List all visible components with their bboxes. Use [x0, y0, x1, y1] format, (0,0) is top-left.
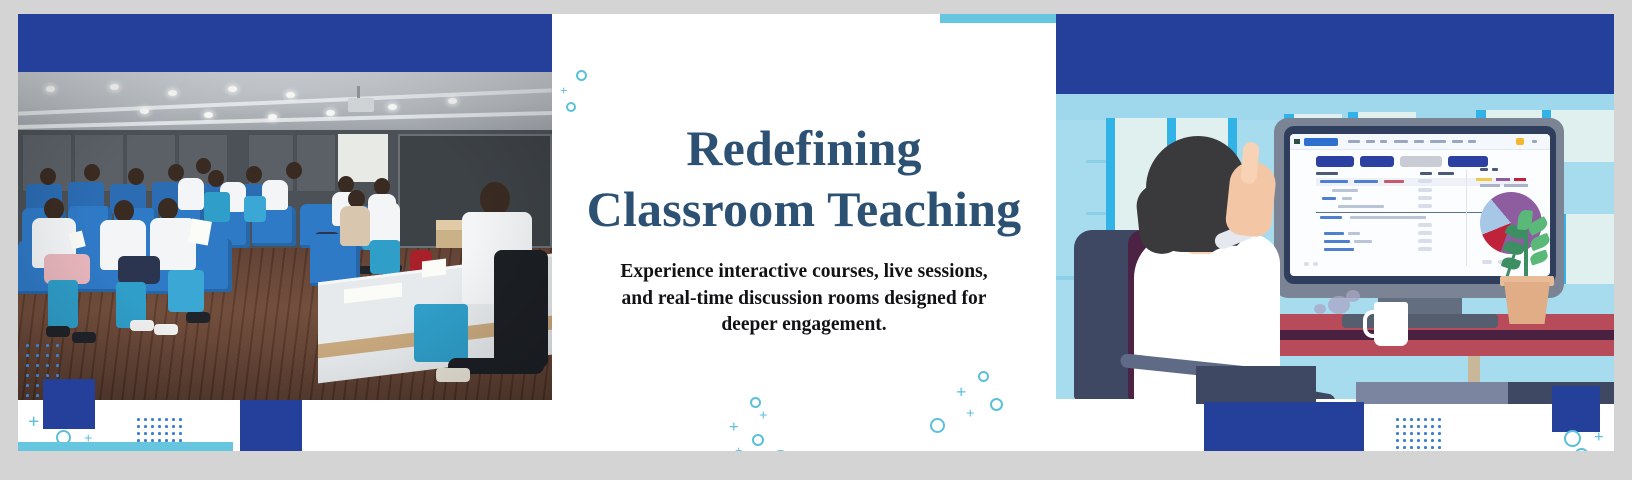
table-cell	[1324, 232, 1344, 235]
classroom-photo	[18, 72, 552, 400]
chart-legend-item	[1514, 178, 1526, 181]
illustration-top-blue-band	[1056, 14, 1614, 94]
floor-block	[1196, 366, 1316, 404]
headline-panel: Redefining Classroom Teaching Experience…	[552, 14, 1056, 451]
steam-puff	[1314, 304, 1326, 314]
chart-legend-item	[1496, 178, 1510, 181]
table-cell	[1354, 240, 1372, 243]
decorative-blue-square	[1552, 386, 1600, 432]
photo-vignette	[18, 72, 552, 400]
chart-footer	[1482, 260, 1492, 264]
page-title-line-1: Redefining	[552, 118, 1056, 179]
notification-badge[interactable]	[1516, 138, 1524, 145]
nav-item[interactable]	[1348, 140, 1360, 143]
nav-item[interactable]	[1430, 140, 1446, 143]
table-cell	[1338, 205, 1384, 208]
toolbar-button[interactable]	[1400, 156, 1442, 167]
table-cell	[1354, 180, 1378, 183]
chart-legend-item	[1480, 184, 1500, 187]
table-cell	[1418, 179, 1432, 183]
toolbar-button[interactable]	[1316, 156, 1354, 167]
page-title-line-2: Classroom Teaching	[552, 179, 1056, 240]
nav-item[interactable]	[1394, 140, 1408, 143]
nav-item[interactable]	[1366, 140, 1375, 143]
dashboard-topbar	[1290, 134, 1550, 150]
teal-accent-bar-top	[940, 14, 1059, 23]
chart-title	[1480, 168, 1488, 171]
chart-legend-item	[1504, 184, 1528, 187]
decorative-blue-square	[240, 400, 302, 451]
table-cell	[1324, 248, 1354, 251]
floor-block	[1356, 382, 1508, 404]
slide-root: + + + Redefining Classroom Teaching Expe…	[0, 0, 1632, 480]
nav-item[interactable]	[1414, 140, 1424, 143]
table-cell	[1320, 180, 1348, 183]
table-header-cell	[1316, 172, 1338, 175]
table-cell	[1322, 197, 1336, 200]
decorative-blue-square	[43, 379, 95, 429]
toolbar-button[interactable]	[1448, 156, 1488, 167]
menu-icon[interactable]	[1294, 139, 1300, 144]
teal-accent-bar-bottom	[18, 442, 233, 451]
plant-pot	[1504, 282, 1550, 324]
nav-item[interactable]	[1468, 140, 1476, 143]
avatar[interactable]	[1532, 140, 1537, 143]
table-header-cell	[1420, 172, 1432, 175]
panel-divider	[1466, 170, 1467, 266]
status-dot	[1304, 262, 1309, 266]
table-cell	[1384, 180, 1404, 183]
table-header-cell	[1438, 172, 1454, 175]
steam-puff	[1346, 290, 1360, 302]
table-cell	[1418, 239, 1432, 243]
app-logo	[1304, 138, 1338, 146]
decorative-blue-square	[1204, 402, 1364, 451]
slide-canvas: + + + Redefining Classroom Teaching Expe…	[18, 14, 1614, 451]
page-title: Redefining Classroom Teaching	[552, 118, 1056, 240]
monitor-screen	[1290, 134, 1550, 276]
chart-title	[1492, 168, 1498, 171]
table-cell	[1418, 231, 1432, 235]
classroom-photo-panel: + + +	[18, 14, 552, 451]
table-cell	[1418, 188, 1432, 192]
table-cell	[1320, 216, 1342, 219]
chart-legend-item	[1476, 178, 1492, 181]
table-cell	[1418, 196, 1432, 200]
table-cell	[1332, 189, 1358, 192]
table-cell	[1418, 204, 1432, 208]
photo-top-blue-band	[18, 14, 552, 72]
table-cell	[1324, 240, 1350, 243]
table-cell	[1342, 197, 1352, 200]
nav-item[interactable]	[1380, 140, 1387, 143]
window-glass	[1566, 214, 1614, 284]
table-cell	[1348, 232, 1360, 235]
page-subtitle: Experience interactive courses, live ses…	[604, 259, 1004, 339]
toolbar-button[interactable]	[1360, 156, 1394, 167]
table-cell	[1350, 216, 1426, 219]
coffee-mug	[1374, 302, 1408, 346]
nav-item[interactable]	[1452, 140, 1463, 143]
status-dot	[1313, 262, 1318, 266]
illustration-panel: 3:4	[1056, 14, 1614, 451]
desk-leg	[1468, 356, 1480, 382]
table-cell	[1418, 247, 1432, 251]
dot-grid-pattern	[1396, 418, 1444, 451]
table-cell	[1418, 223, 1432, 227]
